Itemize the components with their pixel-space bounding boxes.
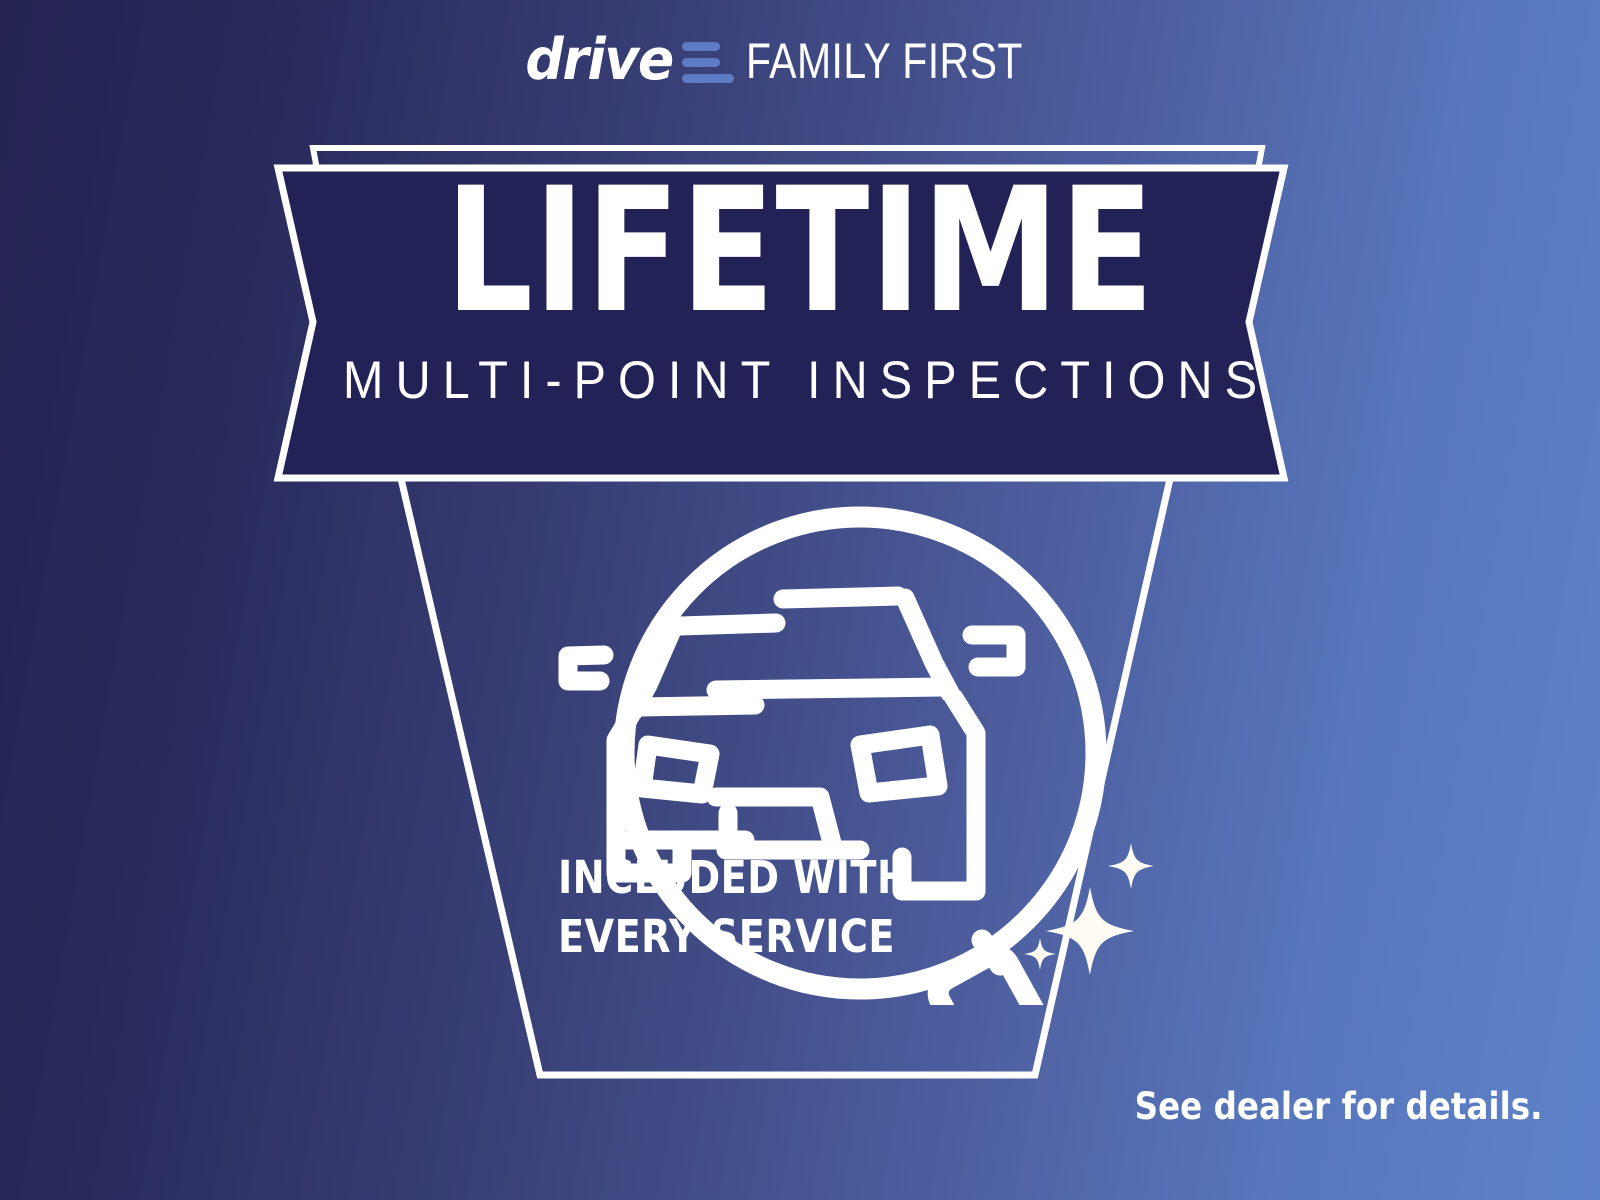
included-line-2: EVERY SERVICE: [558, 907, 909, 966]
banner-text-block: LIFETIME MULTI-POINT INSPECTIONS: [0, 168, 1600, 407]
brand-tagline: FAMILY FIRST: [746, 36, 1023, 86]
car-background-icon: [568, 623, 776, 873]
included-text-block: INCLUDED WITH EVERY SERVICE: [558, 848, 909, 967]
banner-ribbon: [278, 168, 1284, 478]
car-magnified-icon: [716, 596, 1016, 891]
promo-graphic: drive FAMILY FIRST LIFETIME MULTI-POINT …: [0, 0, 1600, 1200]
banner-back-outline: [313, 148, 1262, 452]
brand-wordmark: drive: [526, 32, 673, 89]
subheadline: MULTI-POINT INSPECTIONS: [64, 354, 1536, 407]
brand-logo: drive FAMILY FIRST: [0, 32, 1600, 89]
headline: LIFETIME: [160, 168, 1440, 333]
three-bars-icon: [682, 42, 734, 83]
included-line-1: INCLUDED WITH: [558, 848, 909, 907]
disclaimer-text: See dealer for details.: [1134, 1085, 1542, 1128]
